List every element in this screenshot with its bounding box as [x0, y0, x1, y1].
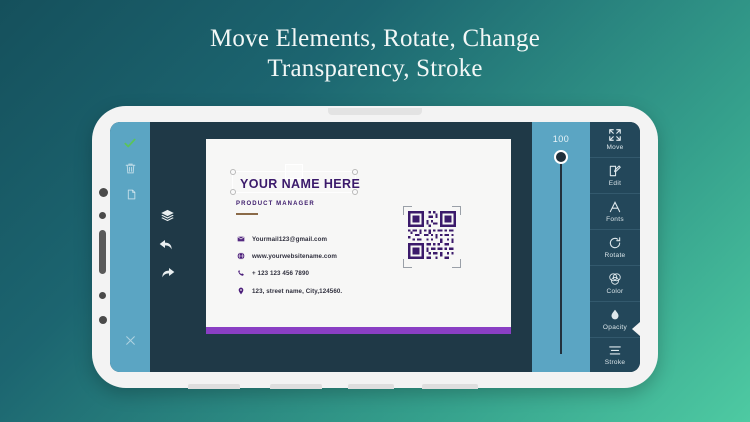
- contact-text: www.yourwebsitename.com: [252, 253, 337, 260]
- align-icon: [608, 345, 622, 357]
- role-underline: [236, 213, 258, 215]
- card-name[interactable]: YOUR NAME HERE: [236, 175, 364, 193]
- opacity-pointer-indicator: [632, 322, 640, 336]
- rotate-icon: [608, 236, 622, 250]
- contact-row-phone[interactable]: + 123 123 456 7890: [236, 269, 309, 277]
- phone-mockup: YOUR NAME HERE PRODUCT MANAGER Yourmail1…: [92, 106, 658, 388]
- contact-row-email[interactable]: Yourmail123@gmail.com: [236, 235, 327, 243]
- tool-edit[interactable]: Edit: [590, 158, 640, 194]
- layers-icon[interactable]: [150, 208, 184, 228]
- opacity-icon: [608, 308, 622, 322]
- color-icon: [608, 272, 622, 286]
- card-accent-bar: [206, 327, 511, 334]
- qr-code-wrap[interactable]: [403, 206, 461, 268]
- contact-text: Yourmail123@gmail.com: [252, 236, 327, 243]
- tool-color[interactable]: Color: [590, 266, 640, 302]
- phone-side-button: [99, 188, 108, 197]
- phone-side-button: [99, 212, 106, 219]
- delete-trash-icon[interactable]: [110, 162, 150, 180]
- left-action-rail: [110, 122, 150, 372]
- undo-icon[interactable]: [150, 238, 184, 259]
- tool-label: Stroke: [605, 359, 626, 366]
- contact-row-address[interactable]: 123, street name, City,124560.: [236, 287, 342, 295]
- contact-text: + 123 123 456 7890: [252, 270, 309, 277]
- tool-fonts[interactable]: Fonts: [590, 194, 640, 230]
- contact-row-website[interactable]: www.yourwebsitename.com: [236, 252, 337, 260]
- slider-thumb[interactable]: [554, 150, 568, 164]
- qr-code-icon[interactable]: [408, 211, 456, 259]
- tool-stroke[interactable]: Stroke: [590, 338, 640, 372]
- phone-bottom-tab: [422, 384, 478, 389]
- phone-volume-button: [99, 230, 106, 274]
- tool-label: Fonts: [606, 216, 624, 223]
- fonts-icon: [608, 200, 622, 214]
- app-screenshot: Move Elements, Rotate, Change Transparen…: [0, 0, 750, 422]
- redo-icon[interactable]: [150, 266, 184, 287]
- phone-side-button: [99, 316, 107, 324]
- confirm-check-icon[interactable]: [110, 136, 150, 155]
- phone-bottom-tab: [348, 384, 394, 389]
- phone-speaker-notch: [328, 108, 422, 115]
- page-title-line-2: Transparency, Stroke: [0, 54, 750, 84]
- phone-screen: YOUR NAME HERE PRODUCT MANAGER Yourmail1…: [110, 122, 640, 372]
- tool-label: Opacity: [603, 324, 627, 331]
- left-tool-strip: [150, 122, 184, 372]
- tool-label: Edit: [609, 180, 621, 187]
- duplicate-copy-icon[interactable]: [110, 188, 150, 206]
- slider-value: 100: [532, 134, 590, 144]
- page-title-line-1: Move Elements, Rotate, Change: [0, 24, 750, 54]
- location-icon: [236, 287, 245, 295]
- edit-icon: [608, 164, 622, 178]
- card-name-wrap[interactable]: YOUR NAME HERE: [236, 175, 364, 193]
- phone-side-button: [99, 292, 106, 299]
- mail-icon: [236, 235, 245, 243]
- card-role[interactable]: PRODUCT MANAGER: [236, 201, 315, 207]
- opacity-slider-panel: 100: [532, 122, 590, 372]
- tool-label: Move: [606, 144, 623, 151]
- tool-label: Color: [606, 288, 623, 295]
- slider-track[interactable]: [560, 154, 562, 354]
- close-x-icon[interactable]: [110, 334, 150, 352]
- move-icon: [608, 128, 622, 142]
- business-card[interactable]: YOUR NAME HERE PRODUCT MANAGER Yourmail1…: [206, 139, 511, 332]
- qr-corner-bracket: [452, 259, 461, 268]
- tool-label: Rotate: [605, 252, 626, 259]
- globe-icon: [236, 252, 245, 260]
- tool-move[interactable]: Move: [590, 122, 640, 158]
- right-toolbar: Move Edit Fonts: [590, 122, 640, 372]
- page-title: Move Elements, Rotate, Change Transparen…: [0, 24, 750, 84]
- qr-corner-bracket: [403, 259, 412, 268]
- contact-text: 123, street name, City,124560.: [252, 288, 342, 295]
- tool-rotate[interactable]: Rotate: [590, 230, 640, 266]
- phone-bottom-tab: [188, 384, 240, 389]
- phone-bottom-tab: [270, 384, 322, 389]
- phone-icon: [236, 269, 245, 277]
- design-canvas[interactable]: YOUR NAME HERE PRODUCT MANAGER Yourmail1…: [184, 122, 532, 372]
